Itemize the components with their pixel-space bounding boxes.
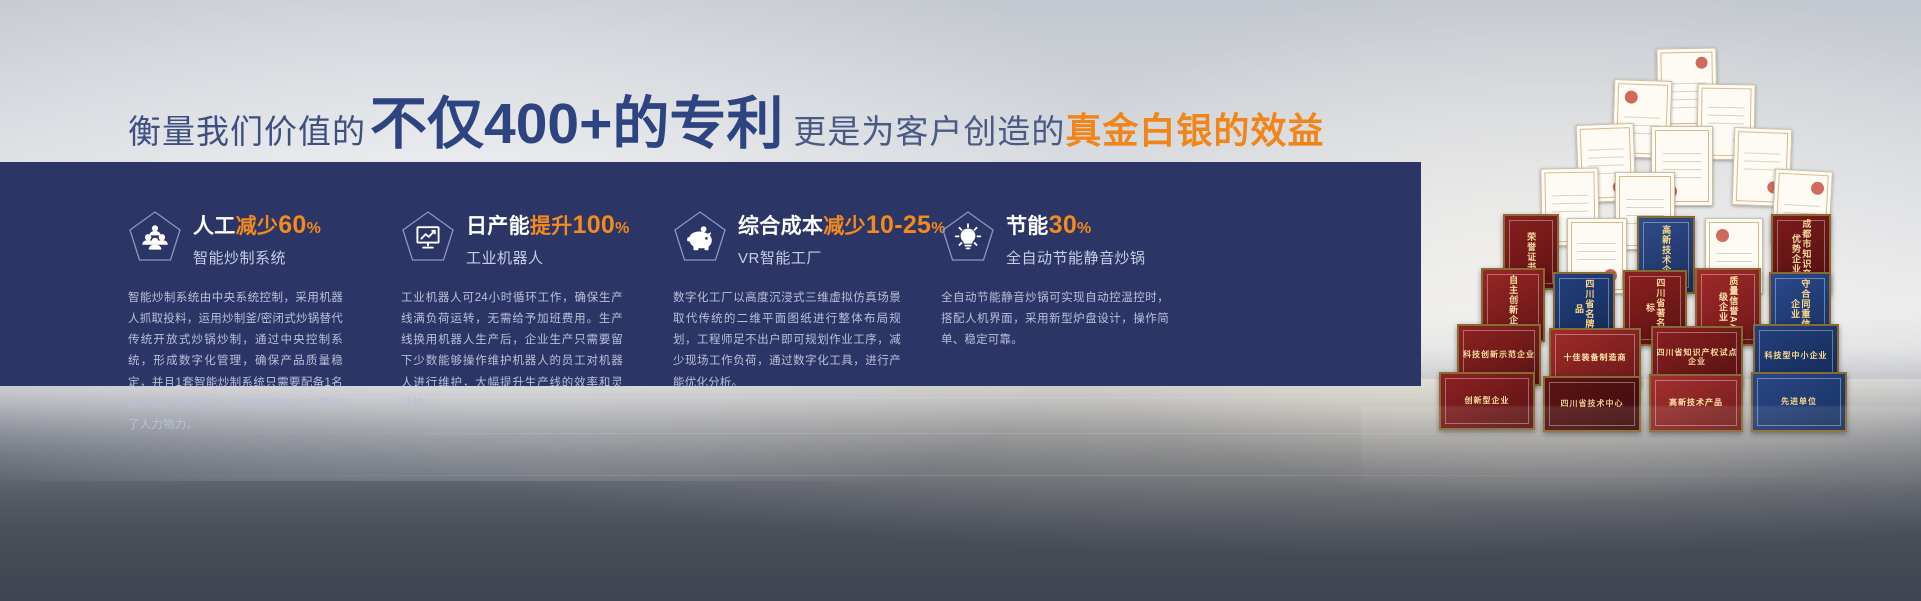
stat-prefix: 日产能: [466, 215, 530, 238]
plaque-label: 先进单位: [1779, 395, 1819, 408]
plaque-label: 高新技术产品: [1667, 396, 1725, 409]
stat-prefix: 人工: [193, 215, 236, 238]
award-plaque: 高新技术产品: [1649, 374, 1743, 432]
lightbulb-icon: [941, 210, 995, 264]
card-stat: 日产能提升100%: [466, 212, 630, 240]
card-header: 节能30% 全自动节能静音炒锅: [941, 210, 1169, 268]
feature-card: 人工减少60% 智能炒制系统 智能炒制系统由中央系统控制，采用机器人抓取投料，运…: [128, 162, 343, 386]
card-stat: 节能30%: [1006, 212, 1146, 240]
feature-card: 综合成本减少10-25% VR智能工厂 数字化工厂以高度沉浸式三维虚拟仿真场景取…: [673, 162, 901, 386]
card-header: 人工减少60% 智能炒制系统: [128, 210, 343, 268]
stat-number: 30: [1049, 211, 1077, 239]
stat-prefix: 综合成本: [738, 215, 823, 238]
stat-percent: %: [307, 220, 322, 237]
stat-verb: 减少: [236, 215, 279, 238]
certificate-seal: [1625, 90, 1638, 103]
card-header: 综合成本减少10-25% VR智能工厂: [673, 210, 901, 268]
card-body: 智能炒制系统由中央系统控制，采用机器人抓取投料，运用炒制釜/密闭式炒锅替代传统开…: [128, 288, 343, 437]
certificate-pyramid: 荣誉证书 高新技术企业 成都市知识产权优势企业 自主创新企业 四川省名牌产品 四…: [1361, 28, 1921, 498]
stat-verb: 提升: [530, 215, 573, 238]
promo-banner: 衡量我们价值的 不仅400+的专利 更是为客户创造的 真金白银的效益: [0, 0, 1921, 601]
stat-prefix: 节能: [1006, 215, 1049, 238]
headline-accent: 真金白银的效益: [1065, 102, 1324, 154]
stat-verb: 减少: [823, 215, 866, 238]
headline: 衡量我们价值的 不仅400+的专利 更是为客户创造的 真金白银的效益: [128, 78, 1324, 142]
headline-middle: 更是为客户创造的: [793, 105, 1065, 153]
card-titles: 人工减少60% 智能炒制系统: [193, 210, 321, 268]
card-body: 数字化工厂以高度沉浸式三维虚拟仿真场景取代传统的二维平面图纸进行整体布局规划，工…: [673, 288, 901, 394]
card-subtitle: VR智能工厂: [738, 247, 946, 268]
people-group-icon: [128, 210, 182, 264]
headline-emphasis: 不仅400+的专利: [370, 78, 783, 160]
award-plaque: 四川省技术中心: [1543, 376, 1641, 432]
stat-number: 60: [278, 211, 306, 239]
stat-number: 10-25: [866, 211, 931, 239]
card-body: 全自动节能静音炒锅可实现自动控温控时，搭配人机界面，采用新型炉盘设计，操作简单、…: [941, 288, 1169, 352]
award-plaque: 创新型企业: [1439, 372, 1535, 430]
award-plaque: 先进单位: [1751, 372, 1847, 432]
card-subtitle: 智能炒制系统: [193, 247, 321, 268]
card-titles: 日产能提升100% 工业机器人: [466, 210, 630, 268]
card-stat: 综合成本减少10-25%: [738, 212, 946, 240]
card-body: 工业机器人可24小时循环工作，确保生产线满负荷运转，无需给予加班费用。生产线换用…: [401, 288, 623, 416]
plaque-label: 创新型企业: [1463, 394, 1512, 407]
stat-number: 100: [573, 211, 616, 239]
card-titles: 节能30% 全自动节能静音炒锅: [1006, 210, 1146, 268]
feature-card: 节能30% 全自动节能静音炒锅 全自动节能静音炒锅可实现自动控温控时，搭配人机界…: [941, 162, 1169, 386]
feature-card: 日产能提升100% 工业机器人 工业机器人可24小时循环工作，确保生产线满负荷运…: [401, 162, 623, 386]
plaque-label: 科技型中小企业: [1763, 349, 1830, 362]
headline-lead: 衡量我们价值的: [128, 105, 366, 153]
stat-percent: %: [615, 220, 630, 237]
card-subtitle: 工业机器人: [466, 247, 630, 268]
stat-percent: %: [1077, 220, 1092, 237]
certificate-seal: [1811, 181, 1825, 195]
card-titles: 综合成本减少10-25% VR智能工厂: [738, 210, 946, 268]
certificate-seal: [1695, 57, 1707, 69]
card-stat: 人工减少60%: [193, 212, 321, 240]
plaque-label: 四川省知识产权试点企业: [1653, 346, 1741, 368]
plaque-label: 十佳装备制造商: [1562, 351, 1629, 364]
piggy-bank-icon: [673, 210, 727, 264]
card-subtitle: 全自动节能静音炒锅: [1006, 247, 1146, 268]
plaque-label: 科技创新示范企业: [1461, 348, 1537, 361]
chart-board-icon: [401, 210, 455, 264]
plaque-label: 四川省技术中心: [1559, 397, 1626, 410]
feature-card-list: 人工减少60% 智能炒制系统 智能炒制系统由中央系统控制，采用机器人抓取投料，运…: [0, 162, 1421, 386]
certificate-seal: [1716, 229, 1729, 242]
card-header: 日产能提升100% 工业机器人: [401, 210, 623, 268]
